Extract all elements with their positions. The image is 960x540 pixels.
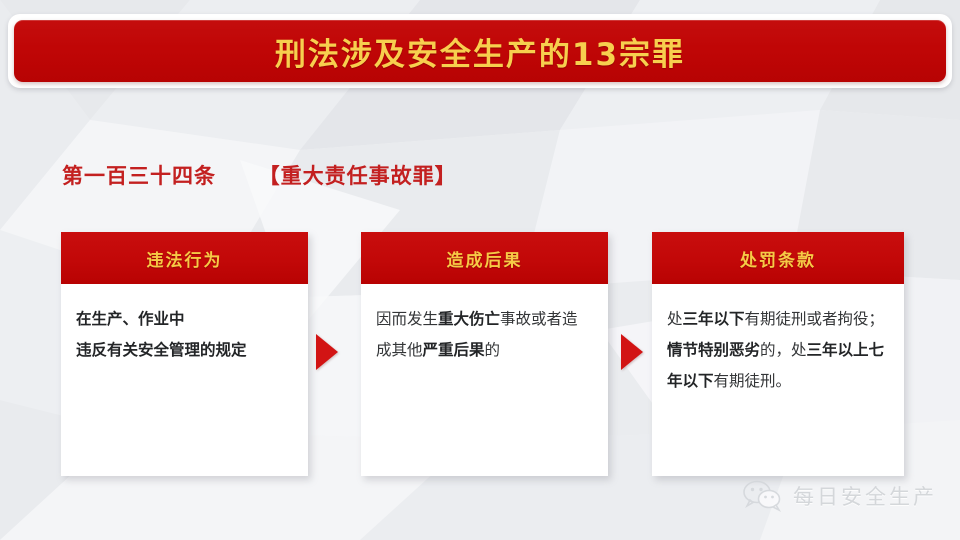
watermark: 每日安全生产 <box>742 480 937 512</box>
body-text: 因而发生 <box>376 310 438 328</box>
card-header-label: 造成后果 <box>447 246 523 271</box>
card-body-line: 情节特别恶劣的，处三年以上七年以下有期徒刑。 <box>667 335 889 397</box>
card-header-violation: 违法行为 <box>61 232 308 284</box>
title-banner: 刑法涉及安全生产的13宗罪 <box>14 20 946 82</box>
page-title: 刑法涉及安全生产的13宗罪 <box>275 29 685 74</box>
card-header-label: 违法行为 <box>147 246 223 271</box>
emphasis-text: 三年以下 <box>683 310 745 328</box>
card-body-line: 因而发生重大伤亡事故或者造成其他严重后果的 <box>376 304 593 366</box>
emphasis-text: 严重后果 <box>423 341 485 359</box>
card-body-line: 在生产、作业中 <box>76 304 293 335</box>
cards-row: 违法行为 在生产、作业中违反有关安全管理的规定 造成后果 因而发生重大伤亡事故或… <box>0 232 960 482</box>
card-body-line: 处三年以下有期徒刑或者拘役； <box>667 304 889 335</box>
emphasis-text: 情节特别恶劣 <box>667 341 760 359</box>
arrow-right-icon <box>621 334 643 370</box>
article-number: 第一百三十四条 <box>62 164 216 188</box>
card-body-penalty: 处三年以下有期徒刑或者拘役；情节特别恶劣的，处三年以上七年以下有期徒刑。 <box>652 284 904 407</box>
article-name: 【重大责任事故罪】 <box>259 164 457 188</box>
emphasis-text: 在生产、作业中 <box>76 310 185 328</box>
card-header-penalty: 处罚条款 <box>652 232 904 284</box>
body-text: 处 <box>667 310 683 328</box>
body-text: 有期徒刑。 <box>714 372 792 390</box>
article-heading: 第一百三十四条 【重大责任事故罪】 <box>62 160 457 190</box>
emphasis-text: 违反有关安全管理的规定 <box>76 341 247 359</box>
body-text: 的 <box>485 341 501 359</box>
card-violation: 违法行为 在生产、作业中违反有关安全管理的规定 <box>61 232 308 476</box>
body-text: 的，处 <box>760 341 807 359</box>
card-body-violation: 在生产、作业中违反有关安全管理的规定 <box>61 284 308 376</box>
card-body-consequence: 因而发生重大伤亡事故或者造成其他严重后果的 <box>361 284 608 376</box>
card-body-line: 违反有关安全管理的规定 <box>76 335 293 366</box>
slide-canvas: 刑法涉及安全生产的13宗罪 第一百三十四条 【重大责任事故罪】 违法行为 在生产… <box>0 0 960 540</box>
wechat-icon <box>742 480 782 512</box>
card-header-label: 处罚条款 <box>740 246 816 271</box>
arrow-right-icon <box>316 334 338 370</box>
card-penalty: 处罚条款 处三年以下有期徒刑或者拘役；情节特别恶劣的，处三年以上七年以下有期徒刑… <box>652 232 904 476</box>
card-consequence: 造成后果 因而发生重大伤亡事故或者造成其他严重后果的 <box>361 232 608 476</box>
body-text: 有期徒刑或者拘役； <box>745 310 885 328</box>
card-header-consequence: 造成后果 <box>361 232 608 284</box>
emphasis-text: 重大伤亡 <box>438 310 500 328</box>
watermark-label: 每日安全生产 <box>793 481 937 511</box>
